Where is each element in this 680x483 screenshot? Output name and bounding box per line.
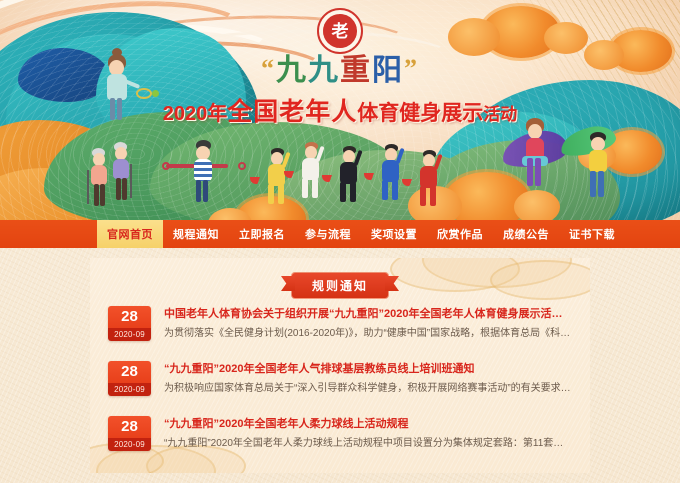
date-month-year: 2020-09: [108, 383, 151, 396]
taichi-fan-icon: [402, 172, 422, 186]
page-root: 老 “九九重阳” 2020年全国老年人体育健身展示活动 官网首页 规程通知 立即…: [0, 0, 680, 483]
notice-text: 中国老年人体育协会关于组织开展“九九重阳”2020年全国老年人体育健身展示活动的…: [164, 306, 572, 341]
chrysanthemum-cloud-icon: [482, 6, 560, 58]
taichi-fan-icon: [322, 168, 342, 182]
list-item[interactable]: 28 2020-09 中国老年人体育协会关于组织开展“九九重阳”2020年全国老…: [108, 306, 572, 361]
notice-summary: 为贯彻落实《全民健身计划(2016-2020年)》，助力“健康中国”国家战略，根…: [164, 327, 572, 341]
shuttlecock-icon: [152, 90, 159, 97]
date-day: 28: [108, 306, 151, 328]
notice-summary: “九九重阳”2020年全国老年人柔力球线上活动规程中项目设置分为集体规定套路：第…: [164, 437, 572, 451]
calligraphy-char-1: 九: [276, 54, 308, 87]
notice-list: 28 2020-09 中国老年人体育协会关于组织开展“九九重阳”2020年全国老…: [108, 306, 572, 471]
section-title-badge: 规则通知: [291, 272, 389, 299]
main-navigation: 官网首页 规程通知 立即报名 参与流程 奖项设置 欣赏作品 成绩公告 证书下载: [0, 220, 680, 248]
calligraphy-char-4: 阳: [372, 54, 404, 87]
nav-item-certificate-download[interactable]: 证书下载: [559, 220, 625, 248]
taichi-fan-icon: [250, 170, 270, 184]
calligraphy-title: “九九重阳”: [0, 56, 680, 86]
date-badge: 28 2020-09: [108, 306, 151, 341]
open-quote: “: [261, 54, 276, 83]
association-emblem-logo: 老: [317, 8, 363, 54]
list-item[interactable]: 28 2020-09 “九九重阳”2020年全国老年人气排球基层教练员线上培训班…: [108, 361, 572, 416]
nav-item-awards-setup[interactable]: 奖项设置: [361, 220, 427, 248]
notice-panel: 规则通知 28 2020-09 中国老年人体育协会关于组织开展“九九重阳”202…: [90, 258, 590, 473]
nav-item-register-now[interactable]: 立即报名: [229, 220, 295, 248]
title-main-part: 全国老年人: [227, 98, 357, 126]
calligraphy-char-3: 重: [340, 54, 372, 87]
hero-banner: 老 “九九重阳” 2020年全国老年人体育健身展示活动: [0, 0, 680, 220]
content-area: 规则通知 28 2020-09 中国老年人体育协会关于组织开展“九九重阳”202…: [0, 248, 680, 483]
nav-left-spacer: [0, 220, 97, 248]
page-title: 2020年全国老年人体育健身展示活动: [0, 100, 680, 125]
date-badge: 28 2020-09: [108, 416, 151, 451]
section-heading: 规则通知: [291, 272, 389, 299]
list-item[interactable]: 28 2020-09 “九九重阳”2020年全国老年人柔力球线上活动规程 “九九…: [108, 416, 572, 471]
figure-boy-green-ribbon: [576, 132, 628, 200]
taichi-fan-icon: [284, 164, 304, 178]
date-day: 28: [108, 361, 151, 383]
notice-title[interactable]: “九九重阳”2020年全国老年人柔力球线上活动规程: [164, 417, 572, 431]
figure-taichi-fan-white: [296, 142, 326, 198]
emblem-ring: [323, 14, 357, 48]
close-quote: ”: [404, 54, 419, 83]
notice-title[interactable]: 中国老年人体育协会关于组织开展“九九重阳”2020年全国老年人体育健身展示活动的…: [164, 307, 572, 321]
figure-boy-resistance-band: [182, 140, 226, 204]
notice-text: “九九重阳”2020年全国老年人柔力球线上活动规程 “九九重阳”2020年全国老…: [164, 416, 572, 451]
notice-text: “九九重阳”2020年全国老年人气排球基层教练员线上培训班通知 为积极响应国家体…: [164, 361, 572, 396]
nav-item-results-announcement[interactable]: 成绩公告: [493, 220, 559, 248]
figure-taichi-fan-red: [414, 150, 444, 206]
date-badge: 28 2020-09: [108, 361, 151, 396]
date-day: 28: [108, 416, 151, 438]
badminton-racket-icon: [136, 88, 152, 99]
nav-item-participation-process[interactable]: 参与流程: [295, 220, 361, 248]
taichi-fan-icon: [364, 166, 384, 180]
nav-item-rules-notice[interactable]: 规程通知: [163, 220, 229, 248]
date-month-year: 2020-09: [108, 438, 151, 451]
figure-taichi-fan-blue: [376, 144, 406, 200]
cloud-watermark-icon: [490, 260, 590, 300]
figure-dancer-purple-shawl: [506, 118, 566, 194]
title-year: 2020年: [163, 103, 228, 125]
date-month-year: 2020-09: [108, 328, 151, 341]
figure-taichi-fan-black: [334, 146, 364, 202]
nav-item-home[interactable]: 官网首页: [97, 220, 163, 248]
title-small-part: 活动: [483, 105, 517, 124]
title-mid-part: 体育健身展示: [357, 102, 483, 125]
notice-title[interactable]: “九九重阳”2020年全国老年人气排球基层教练员线上培训班通知: [164, 362, 572, 376]
figure-senior-walker-2: [108, 142, 134, 200]
calligraphy-char-2: 九: [308, 54, 340, 87]
nav-item-view-works[interactable]: 欣赏作品: [427, 220, 493, 248]
notice-summary: 为积极响应国家体育总局关于“深入引导群众科学健身，积极开展网络赛事活动”的有关要…: [164, 382, 572, 396]
